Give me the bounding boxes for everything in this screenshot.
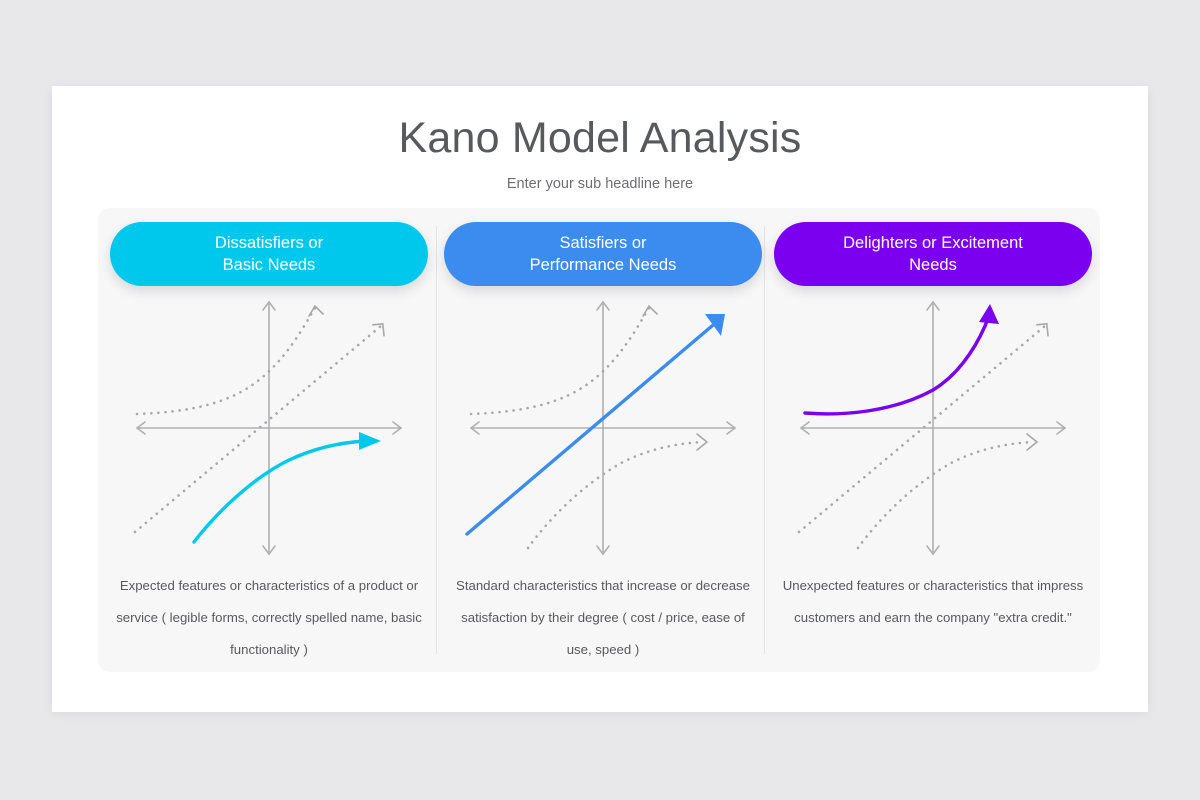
pill-label: Delighters or Excitement Needs xyxy=(843,232,1023,276)
pill-delighters[interactable]: Delighters or Excitement Needs xyxy=(774,222,1092,286)
pill-basic-needs[interactable]: Dissatisfiers or Basic Needs xyxy=(110,222,428,286)
chart-basic-needs xyxy=(119,294,419,562)
page-title: Kano Model Analysis xyxy=(52,114,1148,163)
kano-column-delighters: Delighters or Excitement Needs xyxy=(766,208,1100,672)
basic-needs-arrowhead xyxy=(359,432,381,450)
axes xyxy=(801,302,1065,554)
pill-label-line2: Performance Needs xyxy=(530,256,677,274)
page-subtitle: Enter your sub headline here xyxy=(52,176,1148,192)
axes xyxy=(137,302,401,554)
chart-performance-needs xyxy=(453,294,753,562)
dotted-basic-needs-curve xyxy=(858,442,1033,548)
pill-label-line1: Satisfiers or xyxy=(559,234,646,252)
dotted-basic-needs-arrow xyxy=(697,434,707,450)
dotted-performance-line xyxy=(135,326,381,532)
chart-delighters xyxy=(783,294,1083,562)
dotted-basic-needs-arrow xyxy=(1027,434,1037,450)
kano-column-basic-needs: Dissatisfiers or Basic Needs xyxy=(102,208,436,672)
dotted-delighters-curve xyxy=(137,308,315,414)
slide: Kano Model Analysis Enter your sub headl… xyxy=(52,86,1148,712)
pill-label-line1: Delighters or Excitement xyxy=(843,234,1023,252)
delighters-arrowhead xyxy=(979,304,999,324)
pill-label-line2: Needs xyxy=(909,256,957,274)
dotted-delighters-curve xyxy=(471,308,649,414)
pill-label-line2: Basic Needs xyxy=(223,256,316,274)
performance-line xyxy=(467,320,719,534)
kano-column-performance: Satisfiers or Performance Needs xyxy=(436,208,770,672)
pill-label-line1: Dissatisfiers or xyxy=(215,234,323,252)
dotted-performance-line xyxy=(799,326,1045,532)
caption-performance-needs: Standard characteristics that increase o… xyxy=(450,570,756,666)
delighters-curve xyxy=(805,316,989,414)
pill-label: Satisfiers or Performance Needs xyxy=(530,232,677,276)
performance-arrowhead xyxy=(705,314,725,336)
pill-performance-needs[interactable]: Satisfiers or Performance Needs xyxy=(444,222,762,286)
basic-needs-curve xyxy=(194,441,366,542)
caption-basic-needs: Expected features or characteristics of … xyxy=(116,570,422,666)
kano-panel: Dissatisfiers or Basic Needs xyxy=(98,208,1100,672)
pill-label: Dissatisfiers or Basic Needs xyxy=(215,232,323,276)
caption-delighters: Unexpected features or characteristics t… xyxy=(780,570,1086,634)
